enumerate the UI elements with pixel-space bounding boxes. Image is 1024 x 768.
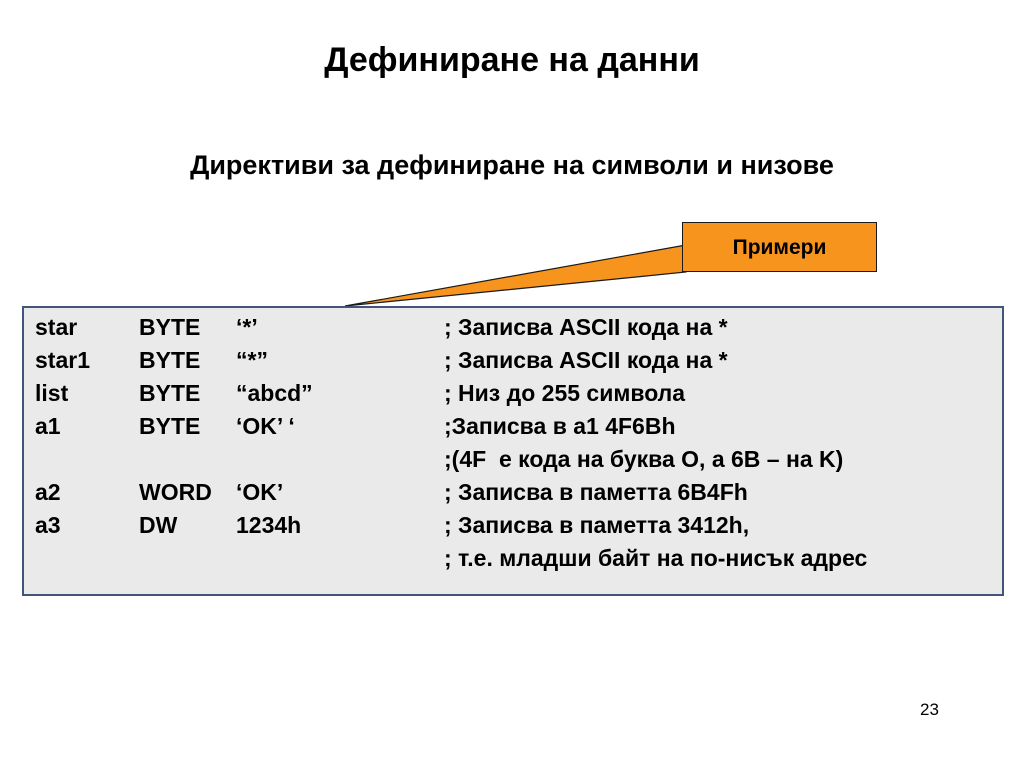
examples-callout: Примери [330,215,890,315]
callout-box: Примери [682,222,877,272]
code-value: “*” [236,347,268,374]
code-line: ; т.е. младши байт на по-нисък адрес [24,545,1002,578]
code-directive: BYTE [139,347,200,374]
code-comment: ; Записва ASCII кода на * [444,314,728,341]
code-comment: ; Записва ASCII кода на * [444,347,728,374]
code-comment: ; Записва в паметта 6B4Fh [444,479,748,506]
code-symbol-name: a1 [35,413,61,440]
code-line: ;(4F е кода на буква O, а 6B – на K) [24,446,1002,479]
slide-canvas: Дефиниране на данни Директиви за дефинир… [0,0,1024,768]
code-comment: ; т.е. младши байт на по-нисък адрес [444,545,867,572]
code-value: “abcd” [236,380,313,407]
code-line-list: star BYTE ‘*’ ; Записва ASCII кода на * … [24,308,1002,594]
code-comment: ; Записва в паметта 3412h, [444,512,749,539]
code-line: a3 DW 1234h ; Записва в паметта 3412h, [24,512,1002,545]
code-symbol-name: star [35,314,77,341]
code-line: star BYTE ‘*’ ; Записва ASCII кода на * [24,314,1002,347]
code-directive: BYTE [139,314,200,341]
code-symbol-name: list [35,380,68,407]
code-value: ‘OK’ [236,479,283,506]
code-value: ‘*’ [236,314,258,341]
code-directive: DW [139,512,177,539]
page-number: 23 [920,700,939,720]
examples-code-box: star BYTE ‘*’ ; Записва ASCII кода на * … [22,306,1004,596]
code-symbol-name: star1 [35,347,90,374]
code-value: ‘OK’ ‘ [236,413,295,440]
code-value: 1234h [236,512,301,539]
code-directive: BYTE [139,413,200,440]
code-line: a2 WORD ‘OK’ ; Записва в паметта 6B4Fh [24,479,1002,512]
code-directive: WORD [139,479,212,506]
code-comment: ; Низ до 255 символа [444,380,685,407]
code-comment: ;(4F е кода на буква O, а 6B – на K) [444,446,843,473]
code-line: star1 BYTE “*” ; Записва ASCII кода на * [24,347,1002,380]
code-symbol-name: a2 [35,479,61,506]
code-symbol-name: a3 [35,512,61,539]
callout-label: Примери [733,237,827,258]
code-line: a1 BYTE ‘OK’ ‘ ;Записва в a1 4F6Bh [24,413,1002,446]
code-comment: ;Записва в a1 4F6Bh [444,413,676,440]
code-directive: BYTE [139,380,200,407]
slide-subtitle: Директиви за дефиниране на символи и низ… [0,150,1024,181]
code-line: list BYTE “abcd” ; Низ до 255 символа [24,380,1002,413]
page-title: Дефиниране на данни [0,41,1024,80]
